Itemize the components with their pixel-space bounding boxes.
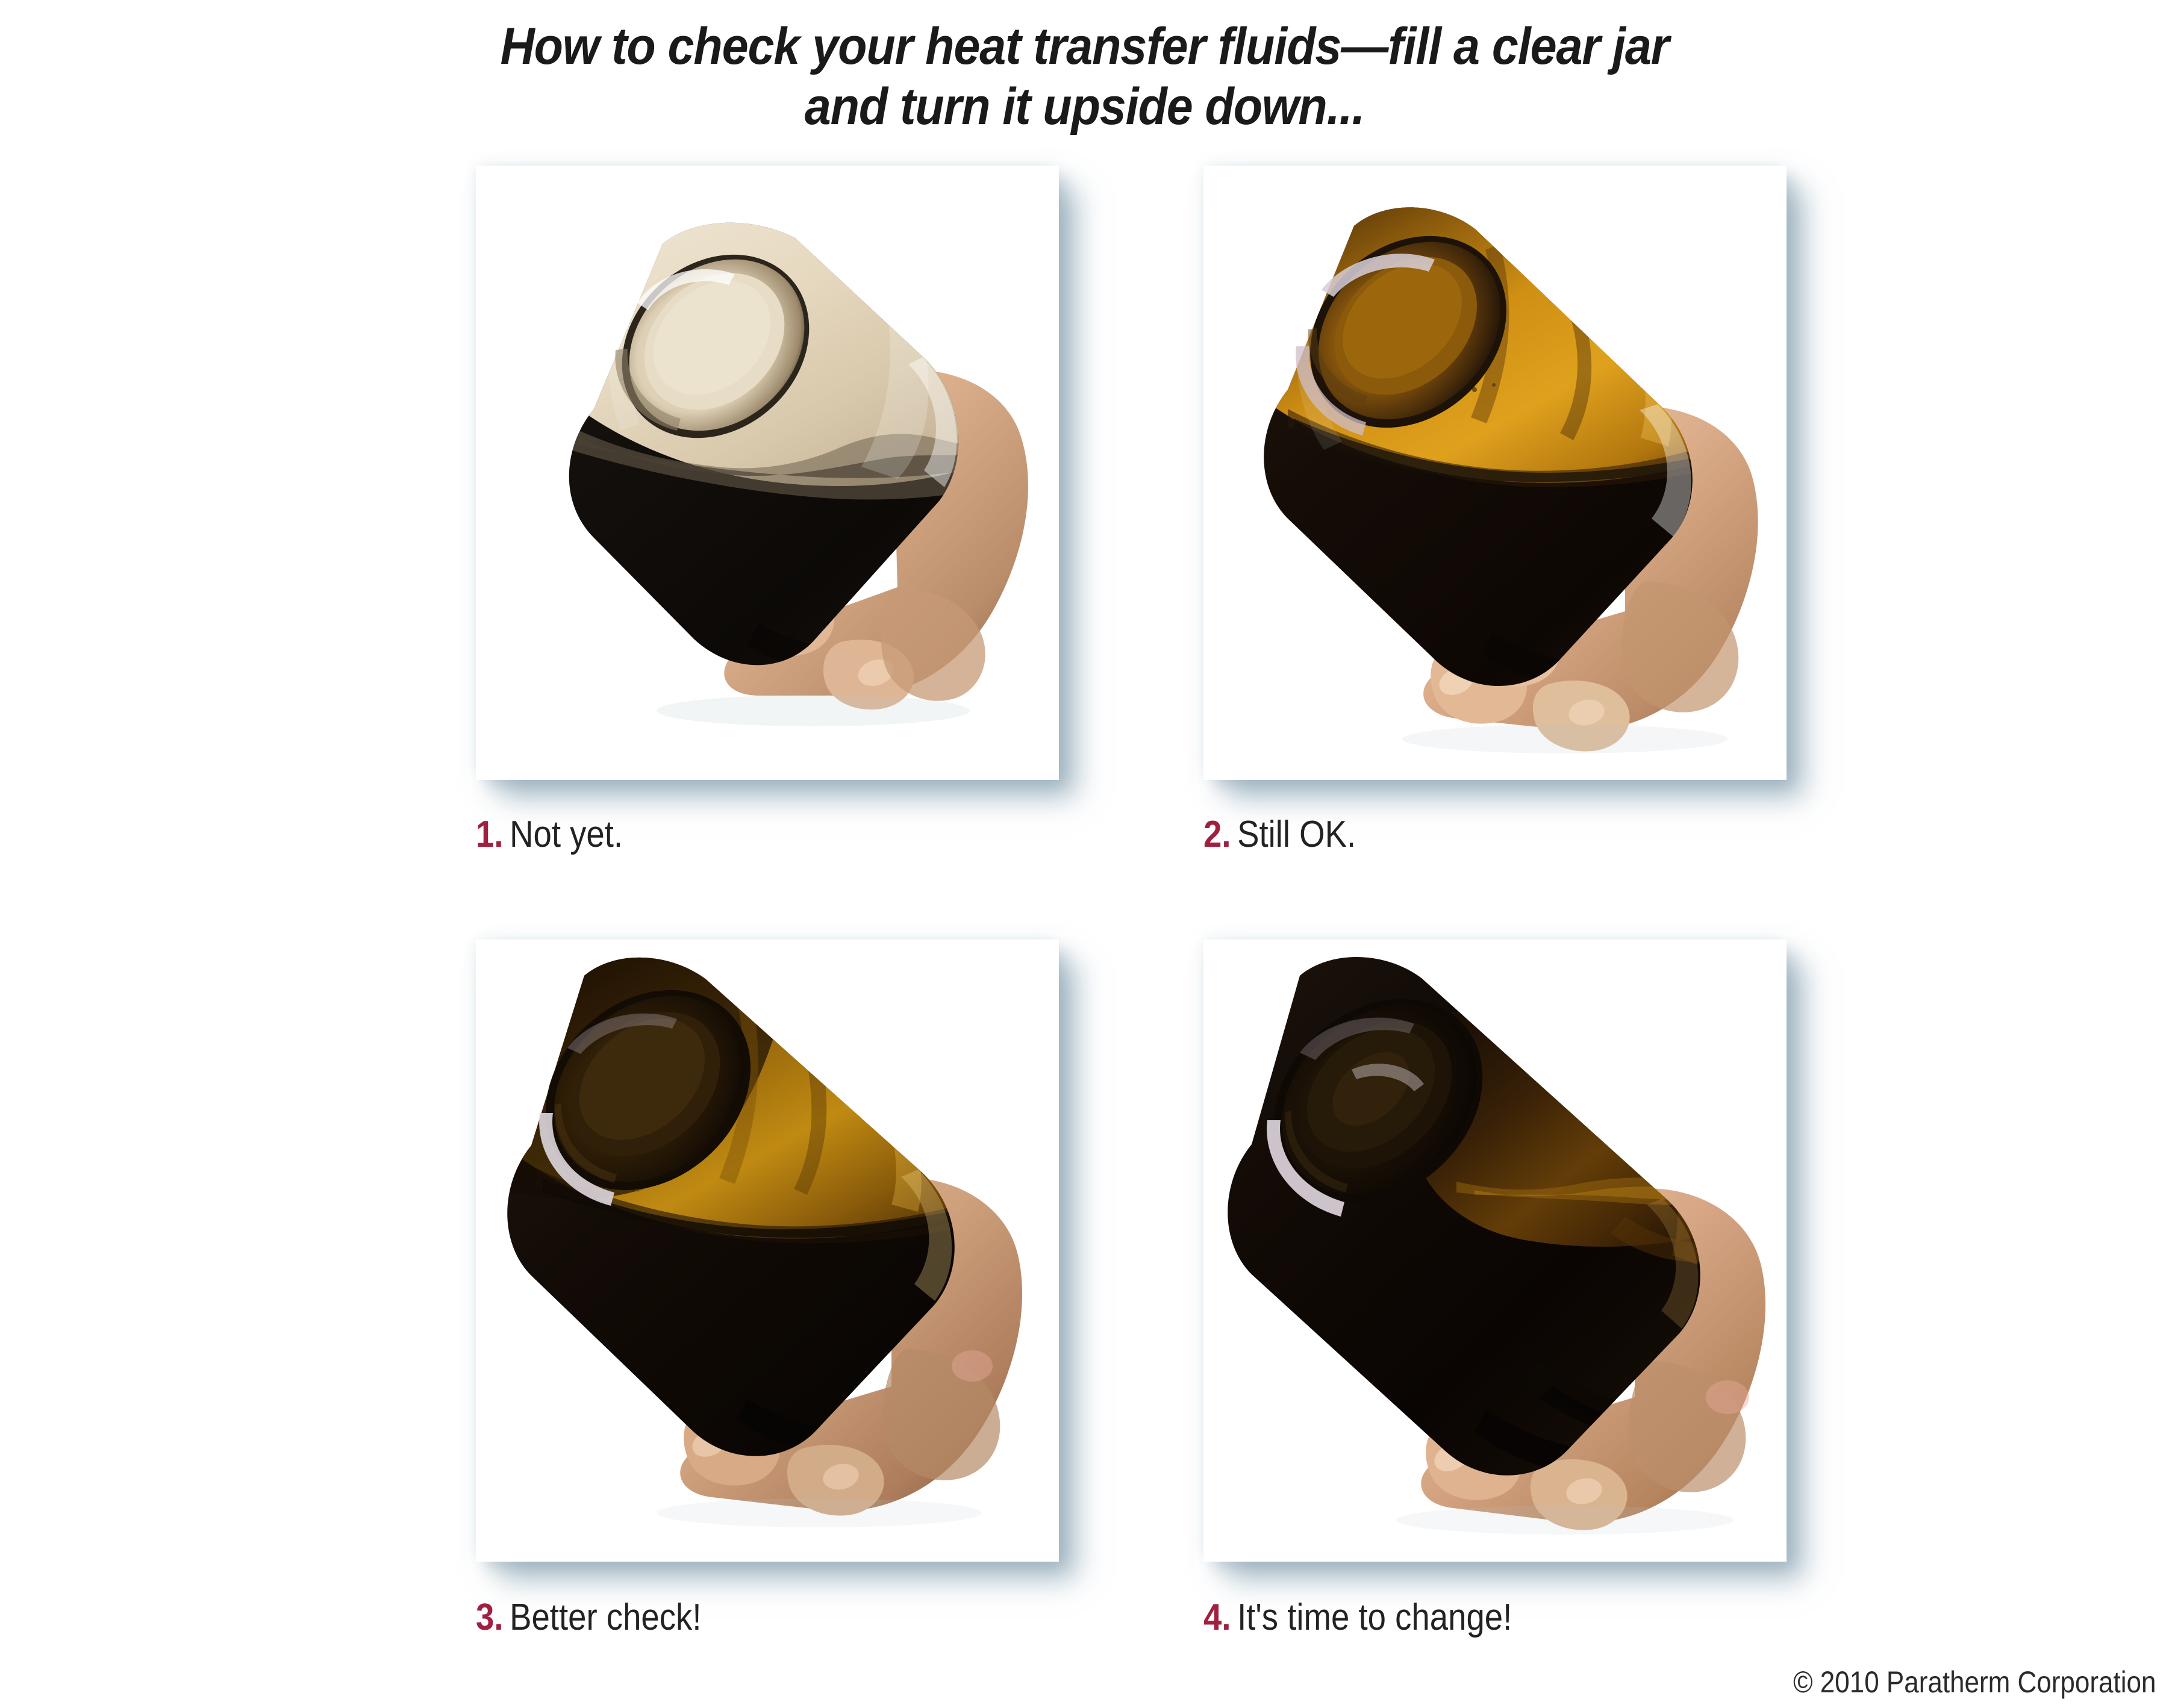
caption-4: 4.It's time to change! xyxy=(1203,1599,1512,1636)
photo-panel-4 xyxy=(1203,940,1787,1562)
caption-3: 3.Better check! xyxy=(476,1599,701,1636)
photo-card-2 xyxy=(1203,166,1787,780)
caption-1: 1.Not yet. xyxy=(476,816,623,853)
page-title: How to check your heat transfer fluids—f… xyxy=(87,17,2082,137)
photo-card-3 xyxy=(476,940,1059,1562)
jar-illustration-1 xyxy=(476,166,1059,780)
caption-number-3: 3. xyxy=(476,1597,504,1638)
photo-jar-opaque xyxy=(1203,940,1787,1562)
caption-number-1: 1. xyxy=(476,814,504,855)
jar-illustration-3 xyxy=(476,940,1059,1562)
photo-card-4 xyxy=(1203,940,1787,1562)
photo-card-1 xyxy=(476,166,1059,780)
caption-number-4: 4. xyxy=(1203,1597,1231,1638)
photo-panel-2 xyxy=(1203,166,1787,780)
caption-2: 2.Still OK. xyxy=(1203,816,1356,853)
photo-jar-amber xyxy=(1203,166,1787,780)
page-title-line-2: and turn it upside down... xyxy=(87,77,2082,137)
jar-illustration-4 xyxy=(1203,940,1787,1562)
photo-panel-1 xyxy=(476,166,1059,780)
page-title-line-1: How to check your heat transfer fluids—f… xyxy=(87,17,2082,77)
caption-text-4: It's time to change! xyxy=(1237,1597,1512,1638)
jar-illustration-2 xyxy=(1203,166,1787,780)
photo-jar-dark-amber xyxy=(476,940,1059,1562)
caption-text-2: Still OK. xyxy=(1237,814,1356,855)
caption-text-1: Not yet. xyxy=(510,814,623,855)
caption-text-3: Better check! xyxy=(510,1597,701,1638)
photo-jar-foam xyxy=(476,166,1059,780)
photo-panel-3 xyxy=(476,940,1059,1562)
copyright-notice: © 2010 Paratherm Corporation xyxy=(1793,1665,2156,1700)
caption-number-2: 2. xyxy=(1203,814,1231,855)
